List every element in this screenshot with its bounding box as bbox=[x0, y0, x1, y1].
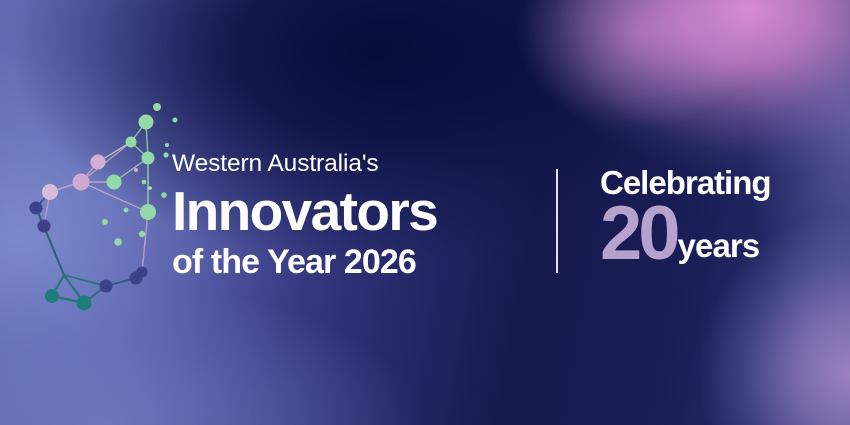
network-node bbox=[137, 267, 148, 278]
network-dot bbox=[114, 238, 122, 246]
network-node bbox=[38, 220, 51, 233]
network-node bbox=[30, 202, 43, 215]
network-dot bbox=[124, 208, 129, 213]
subtitle-text: of the Year 2026 bbox=[172, 245, 437, 279]
title-block-left: Western Australia's Innovators of the Ye… bbox=[172, 152, 437, 279]
network-dot bbox=[142, 180, 147, 185]
network-dot bbox=[161, 192, 167, 198]
banner-root: Western Australia's Innovators of the Ye… bbox=[0, 0, 850, 425]
network-dot bbox=[134, 168, 138, 172]
network-node bbox=[126, 137, 137, 148]
network-node bbox=[73, 174, 90, 191]
network-dot bbox=[139, 231, 145, 237]
network-node bbox=[42, 184, 58, 200]
kicker-text: Western Australia's bbox=[172, 152, 437, 177]
network-node bbox=[139, 115, 154, 130]
network-dot bbox=[165, 143, 169, 147]
anniversary-number: 20 bbox=[600, 201, 677, 268]
anniversary-block-right: Celebrating 20 years bbox=[600, 166, 771, 268]
network-dot bbox=[173, 118, 178, 123]
years-label: years bbox=[678, 229, 760, 262]
network-nodes bbox=[30, 115, 157, 311]
network-dot bbox=[102, 219, 108, 225]
network-node bbox=[107, 175, 122, 190]
network-node bbox=[100, 280, 113, 293]
years-row: 20 years bbox=[600, 201, 771, 268]
network-dot bbox=[153, 103, 161, 111]
network-dot bbox=[163, 152, 168, 157]
network-node bbox=[142, 152, 155, 165]
network-dot bbox=[148, 186, 152, 190]
network-node bbox=[45, 289, 59, 303]
headline-text: Innovators bbox=[172, 184, 437, 239]
vertical-divider bbox=[556, 169, 558, 273]
network-node bbox=[91, 155, 106, 170]
network-edge bbox=[44, 226, 64, 275]
network-node bbox=[140, 204, 156, 220]
network-edge bbox=[142, 212, 148, 272]
network-node bbox=[77, 296, 92, 311]
